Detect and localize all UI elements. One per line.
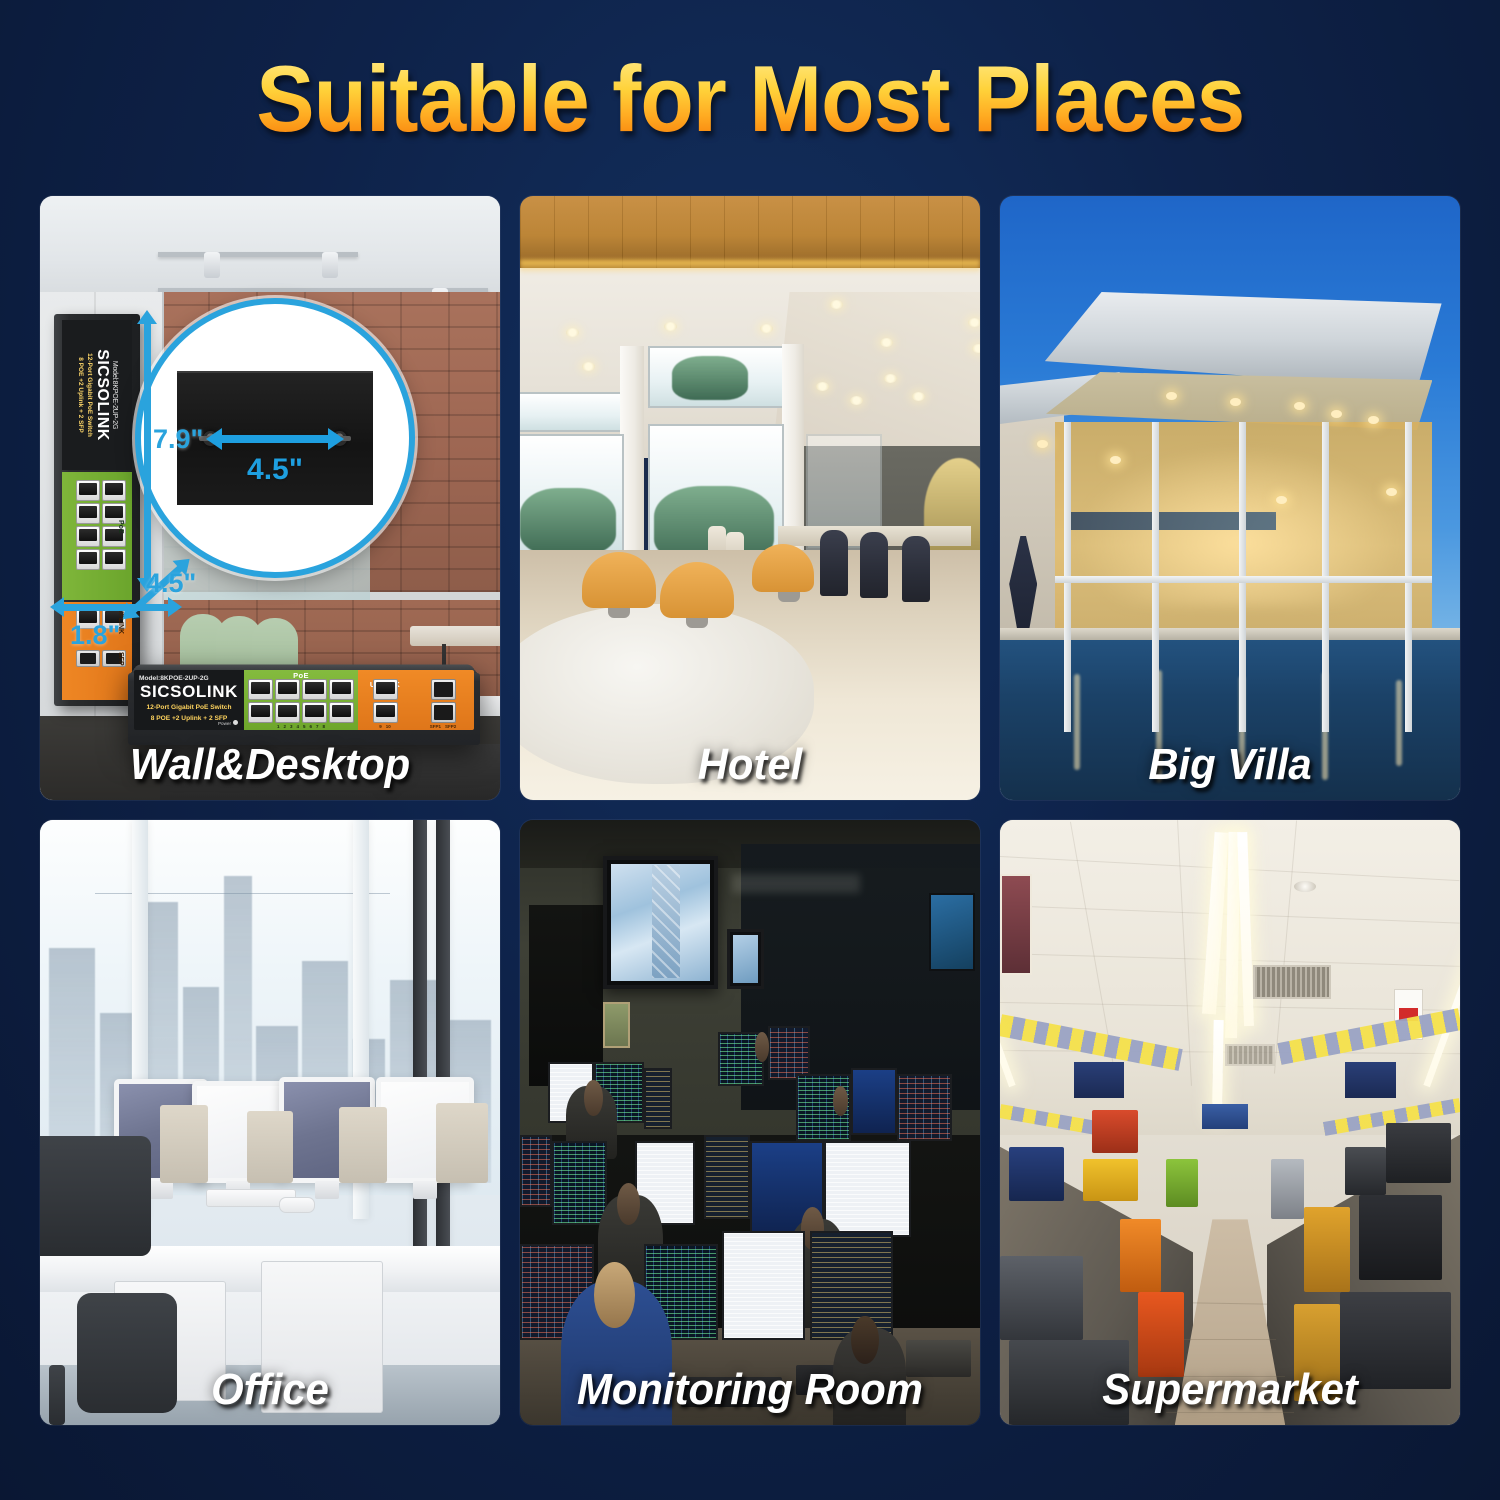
product-block	[1340, 1292, 1450, 1389]
page-title: Suitable for Most Places	[256, 52, 1244, 146]
monitor-stand	[315, 1181, 339, 1199]
title-bar: Suitable for Most Places	[0, 44, 1500, 154]
product-feature-page: Suitable for Most Places	[0, 0, 1500, 1500]
product-block	[1009, 1147, 1064, 1201]
switch-front-face: Model:8KPOE-2UP-2G SICSOLINK 12-Port Gig…	[134, 670, 474, 730]
person-head	[594, 1262, 635, 1329]
scene-office	[40, 820, 500, 1425]
rj45-port	[76, 480, 100, 501]
downlight	[760, 324, 773, 333]
person-head	[755, 1032, 770, 1062]
switch-branding-area: Model:8KPOE-2UP-2G SICSOLINK 12-Port Gig…	[134, 670, 244, 730]
bar-stool	[820, 530, 848, 596]
monitor-screen	[724, 1233, 803, 1338]
ceiling	[40, 196, 500, 303]
cove-light-glow	[520, 260, 980, 274]
port-led: 7	[316, 724, 319, 729]
person-head	[584, 1080, 602, 1116]
scene-big-villa	[1000, 196, 1460, 800]
port-led: SFP2	[445, 724, 456, 729]
monitor-screen	[899, 1076, 950, 1139]
port-led: SFP1	[430, 724, 441, 729]
sfp-slot	[76, 650, 100, 667]
downlight	[830, 300, 843, 309]
recessed-spotlight	[1368, 416, 1379, 424]
smoke-detector	[1294, 881, 1316, 892]
bar-stool	[860, 532, 888, 598]
wall-picture	[603, 1002, 630, 1048]
rj45-port	[275, 702, 300, 723]
poe-section-label: PoE	[117, 520, 124, 534]
desk-divider-panel	[436, 1103, 488, 1183]
port-led: 6	[310, 724, 313, 729]
panel-wall-desktop[interactable]: Model:8KPOE-2UP-2G SICSOLINK 12-Port Gig…	[40, 196, 500, 800]
rj45-port	[373, 679, 398, 700]
rj45-port	[329, 679, 354, 700]
monitor	[851, 1068, 897, 1135]
mount-spacing-arrow	[221, 435, 329, 443]
rj45-port	[302, 679, 327, 700]
monitor-screen	[812, 1233, 891, 1338]
width-dimension-arrow	[62, 604, 170, 611]
switch-brand: SICSOLINK	[93, 349, 111, 441]
width-dimension-label: 1.8"	[70, 620, 120, 651]
sfp-leds: SFP1 SFP2	[412, 724, 474, 729]
depth-dimension-label: 4.5"	[146, 568, 196, 599]
file-cabinet	[261, 1261, 383, 1413]
aisle-sign	[1074, 1062, 1125, 1098]
scene-grid: Model:8KPOE-2UP-2G SICSOLINK 12-Port Gig…	[40, 196, 1460, 1440]
recessed-spotlight	[1276, 496, 1287, 504]
desk-divider-panel	[160, 1105, 208, 1183]
keyboard	[681, 1377, 782, 1407]
bar-stool	[902, 536, 930, 602]
switch-back-plate: 4.5"	[177, 371, 373, 505]
ceiling-light	[732, 874, 861, 892]
person-head	[617, 1183, 640, 1225]
poe-port-leds: 1 2 3 4 5 6 7 8	[244, 724, 358, 729]
table	[410, 626, 500, 646]
panel-hotel[interactable]: Hotel	[520, 196, 980, 800]
monitor-screen	[853, 1070, 895, 1133]
downlight	[884, 374, 897, 383]
monitor-stand	[413, 1181, 437, 1199]
pool-reflection	[1396, 680, 1402, 766]
scene-supermarket	[1000, 820, 1460, 1425]
window-transom	[1055, 576, 1432, 583]
monitor-screen	[706, 1137, 748, 1218]
recessed-spotlight	[1037, 440, 1048, 448]
monitor-screen	[554, 1143, 605, 1224]
rj45-port	[329, 702, 354, 723]
downlight	[566, 328, 579, 337]
height-dimension-arrow	[144, 322, 151, 580]
monitor-screen	[522, 1137, 550, 1206]
product-block	[1345, 1147, 1386, 1195]
desk-phone	[906, 1340, 970, 1376]
tower-image	[652, 865, 680, 978]
panel-supermarket[interactable]: Supermarket	[1000, 820, 1460, 1425]
recessed-spotlight	[1166, 392, 1177, 400]
doorway	[529, 905, 603, 1087]
floor-tile-line	[1166, 1412, 1295, 1413]
desk-divider-panel	[247, 1111, 293, 1183]
switch-spec-line2: 8 POE +2 Uplink + 2 SFP	[151, 715, 228, 724]
product-block	[1092, 1110, 1138, 1152]
downlight	[850, 396, 863, 405]
aisle-sign	[1202, 1104, 1248, 1128]
product-block	[1271, 1159, 1303, 1220]
floor-tile-line	[1184, 1339, 1276, 1340]
poe-port-section: PoE	[244, 670, 358, 730]
product-block	[1386, 1123, 1450, 1184]
monitor-screen	[770, 1028, 807, 1078]
wall-poster	[1000, 874, 1032, 975]
downlight	[816, 382, 829, 391]
rj45-port	[373, 702, 398, 723]
sfp-slot	[431, 679, 456, 700]
switch-label-area: Model:8KPOE-2UP-2G SICSOLINK 12-Port Gig…	[62, 320, 132, 470]
rj45-port	[102, 480, 126, 501]
height-dimension-label: 7.9"	[153, 424, 203, 455]
monitor	[768, 1026, 809, 1080]
port-led: 2	[283, 724, 286, 729]
rj45-port	[76, 526, 100, 547]
desk-divider-panel	[339, 1107, 387, 1183]
panel-office[interactable]: Office	[40, 820, 500, 1425]
monitor	[520, 1135, 552, 1208]
display-content	[733, 935, 758, 984]
port-led: 9	[379, 724, 382, 729]
recessed-spotlight	[1230, 398, 1241, 406]
monitor-screen	[826, 1143, 909, 1236]
scene-hotel	[520, 196, 980, 800]
port-led: 5	[303, 724, 306, 729]
mount-spacing-label: 4.5"	[177, 453, 373, 487]
ceiling-light	[1212, 1020, 1224, 1117]
switch-label-text: Model:8KPOE-2UP-2G SICSOLINK 12-Port Gig…	[62, 320, 132, 470]
product-block	[1000, 1256, 1083, 1341]
poe-port-section: PoE	[62, 472, 132, 600]
product-block	[1359, 1195, 1442, 1280]
power-indicator: Power	[218, 720, 238, 726]
scene-monitoring-room	[520, 820, 980, 1425]
desk-surface	[160, 744, 500, 800]
rj45-port	[275, 679, 300, 700]
office-chair	[77, 1293, 177, 1413]
monitor-stand	[149, 1181, 173, 1199]
port-led: 3	[290, 724, 293, 729]
port-led: 10	[386, 724, 391, 729]
office-chair	[40, 1136, 151, 1256]
track-spotlight	[204, 252, 220, 278]
monitor	[644, 1068, 672, 1129]
power-label: Power	[218, 721, 231, 726]
panel-monitoring-room[interactable]: Monitoring Room	[520, 820, 980, 1425]
rj45-port	[76, 549, 100, 570]
downlight	[880, 338, 893, 347]
person-head	[851, 1316, 879, 1364]
product-block	[1138, 1292, 1184, 1377]
port-led: 8	[323, 724, 326, 729]
wall-display-small	[727, 929, 764, 990]
monitor-screen	[646, 1070, 670, 1127]
product-block	[1166, 1159, 1198, 1207]
switch-model: Model:8KPOE-2UP-2G	[111, 361, 118, 429]
rj45-port	[102, 549, 126, 570]
floor-tile-line	[1175, 1376, 1285, 1377]
pool-reflection	[1074, 674, 1080, 770]
foliage	[672, 356, 748, 400]
wall-display	[603, 856, 718, 989]
power-led	[233, 720, 238, 725]
switch-model: Model:8KPOE-2UP-2G	[139, 675, 209, 682]
downlight	[968, 318, 980, 327]
window-frame-dark	[436, 820, 450, 1256]
track-spotlight	[322, 252, 338, 278]
wood-ceiling	[520, 196, 980, 268]
sfp-section-label: SFP	[117, 652, 124, 666]
clerestory-window	[520, 392, 636, 432]
downlight	[972, 344, 980, 353]
uplink-leds: 9 10	[358, 724, 412, 729]
switch-spec-line1: 12-Port Gigabit PoE Switch	[147, 704, 232, 713]
sfp-slot	[431, 702, 456, 723]
downlight	[582, 362, 595, 371]
product-block	[1304, 1207, 1350, 1292]
rj45-port	[302, 702, 327, 723]
port-led: 1	[277, 724, 280, 729]
chair-base	[49, 1365, 65, 1425]
port-led: 4	[296, 724, 299, 729]
uplink-group: UPLINK 9 10	[358, 679, 412, 730]
switch-brand: SICSOLINK	[140, 682, 238, 702]
ceiling-vent	[1225, 1044, 1275, 1066]
rj45-port	[248, 679, 273, 700]
rj45-port	[76, 503, 100, 524]
monitor	[704, 1135, 750, 1220]
ceiling-vent	[1253, 965, 1331, 999]
uplink-sfp-section: UPLINK 9 10	[358, 670, 474, 730]
product-block	[1120, 1219, 1161, 1292]
aisle-sign	[1345, 1062, 1396, 1098]
mouse	[279, 1197, 315, 1213]
monitor	[552, 1141, 607, 1226]
poe-ports	[244, 679, 358, 723]
sfp-group: SFP SFP1 SFP2	[412, 679, 474, 730]
product-block	[1294, 1304, 1340, 1401]
rj45-port	[248, 702, 273, 723]
product-block	[1009, 1340, 1129, 1425]
rug	[520, 604, 814, 784]
monitor	[824, 1141, 911, 1238]
foliage	[520, 488, 616, 554]
wall-display-side	[929, 893, 975, 972]
scene-wall-desktop: Model:8KPOE-2UP-2G SICSOLINK 12-Port Gig…	[40, 196, 500, 800]
monitor	[722, 1231, 805, 1340]
downlight	[664, 322, 677, 331]
product-block	[1083, 1159, 1138, 1201]
switch-spec-line1: 12-Port Gigabit PoE Switch	[85, 353, 93, 437]
monitor	[810, 1231, 893, 1340]
desktop-switch: Model:8KPOE-2UP-2G SICSOLINK 12-Port Gig…	[128, 664, 480, 748]
downlight	[912, 392, 925, 401]
switch-spec-line2: 8 POE +2 Uplink + 2 SFP	[76, 357, 84, 433]
monitor	[897, 1074, 952, 1141]
panel-big-villa[interactable]: Big Villa	[1000, 196, 1460, 800]
